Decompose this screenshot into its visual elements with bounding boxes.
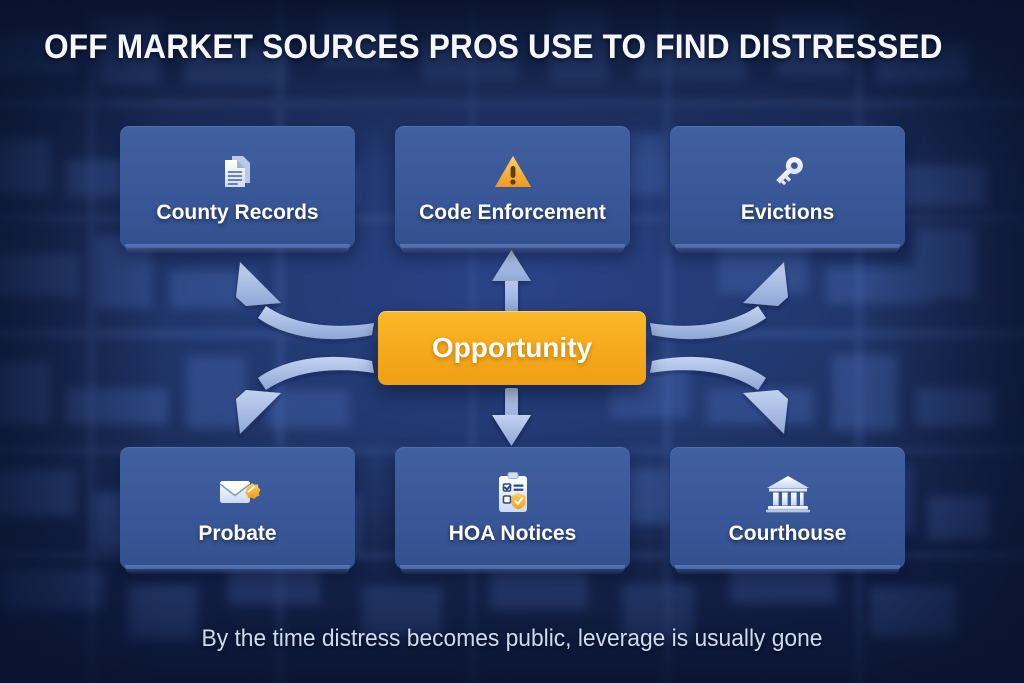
card-label: Courthouse bbox=[729, 522, 847, 546]
arrow-hub-to-courthouse bbox=[650, 357, 788, 434]
infographic-canvas: OFF MARKET SOURCES PROS USE TO FIND DIST… bbox=[0, 0, 1024, 683]
arrow-hub-to-county-records bbox=[236, 262, 374, 339]
card-label: Probate bbox=[198, 522, 276, 546]
card-county-records[interactable]: County Records bbox=[120, 126, 355, 248]
arrow-hub-to-hoa-notices bbox=[492, 388, 531, 446]
card-label: HOA Notices bbox=[449, 522, 577, 546]
courthouse-icon bbox=[764, 470, 812, 516]
arrow-hub-to-evictions bbox=[650, 262, 788, 339]
card-label: Code Enforcement bbox=[419, 201, 606, 225]
arrow-hub-to-code-enforcement bbox=[492, 250, 531, 312]
card-label: Evictions bbox=[741, 201, 834, 225]
card-code-enforcement[interactable]: Code Enforcement bbox=[395, 126, 630, 248]
card-probate[interactable]: Probate bbox=[120, 447, 355, 569]
hub-label: Opportunity bbox=[432, 332, 592, 364]
card-evictions[interactable]: Evictions bbox=[670, 126, 905, 248]
key-icon bbox=[766, 149, 810, 195]
documents-icon bbox=[216, 149, 260, 195]
hub-opportunity[interactable]: Opportunity bbox=[378, 311, 646, 385]
card-hoa-notices[interactable]: HOA Notices bbox=[395, 447, 630, 569]
footer-caption: By the time distress becomes public, lev… bbox=[26, 625, 999, 653]
card-courthouse[interactable]: Courthouse bbox=[670, 447, 905, 569]
warning-triangle-icon bbox=[491, 149, 535, 195]
clipboard-check-icon bbox=[491, 470, 535, 516]
envelope-seal-icon bbox=[214, 470, 262, 516]
arrow-hub-to-probate bbox=[236, 357, 374, 434]
card-label: County Records bbox=[156, 201, 318, 225]
